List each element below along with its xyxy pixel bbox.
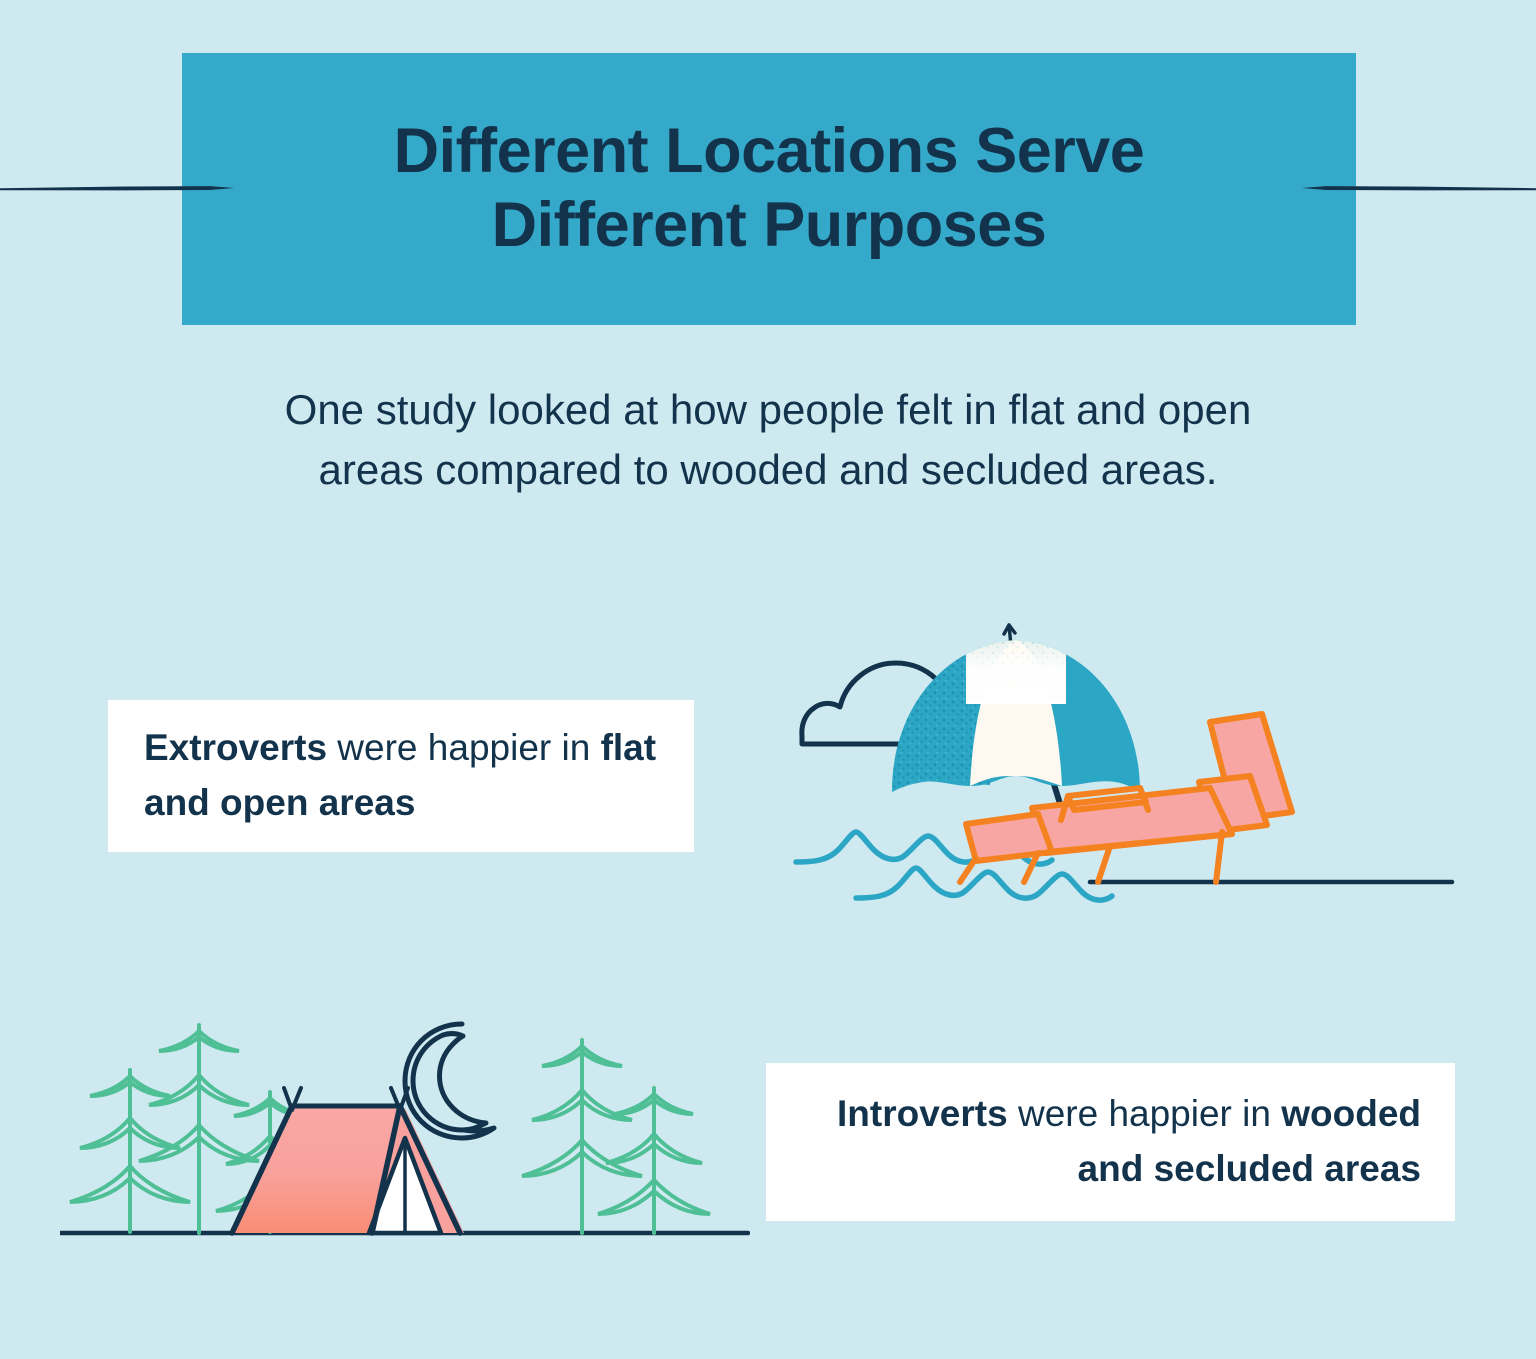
infographic-canvas: Different Locations Serve Different Purp… (0, 0, 1536, 1359)
callout-extroverts-lead: Extroverts (144, 727, 327, 768)
page-title: Different Locations Serve Different Purp… (394, 115, 1145, 262)
beach-illustration (780, 610, 1460, 910)
subtitle-text: One study looked at how people felt in f… (108, 380, 1428, 499)
callout-introverts-text: Introverts were happier in wooded and se… (766, 1087, 1421, 1197)
callout-extroverts-text: Extroverts were happier in flat and open… (144, 721, 694, 831)
camping-illustration (60, 1000, 750, 1270)
callout-extroverts-middle: were happier in (327, 727, 601, 768)
callout-introverts-middle: were happier in (1008, 1093, 1282, 1134)
crescent-moon-icon (405, 1024, 494, 1138)
callout-introverts: Introverts were happier in wooded and se… (766, 1063, 1455, 1221)
callout-extroverts: Extroverts were happier in flat and open… (108, 700, 694, 852)
callout-introverts-lead: Introverts (837, 1093, 1008, 1134)
pine-tree (598, 1088, 710, 1233)
title-banner: Different Locations Serve Different Purp… (182, 53, 1356, 325)
